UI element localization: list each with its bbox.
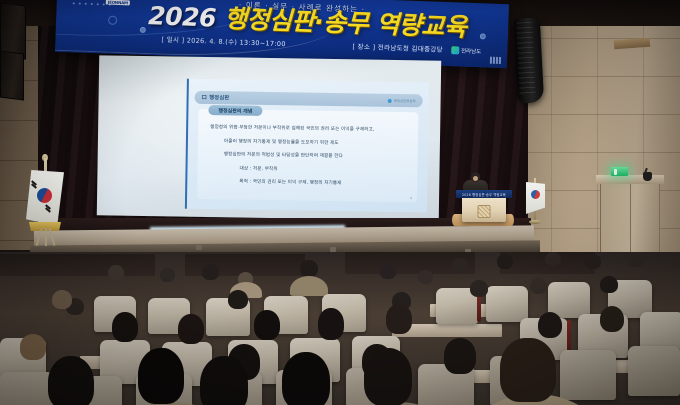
podium <box>462 196 506 222</box>
audience-head <box>364 348 412 405</box>
audience-head <box>138 348 184 404</box>
conference-hall-photo: 전라남도 JEONNAM · 이론 · 실무 · 사례로 완성하는 · 2026… <box>0 0 680 405</box>
audience-head <box>538 312 562 338</box>
running-man-icon <box>614 169 617 175</box>
stage-fixture <box>196 245 202 250</box>
banner-logo-line2: JEONNAM <box>106 0 130 5</box>
emergency-exit-sign <box>611 167 628 176</box>
audience-head <box>585 254 601 269</box>
line-array-speaker <box>0 51 24 101</box>
audience-head <box>497 254 513 269</box>
taegukgi-flag-small <box>524 178 546 224</box>
audience-head <box>500 338 556 402</box>
province-logo-icon <box>451 46 459 54</box>
audience-seat <box>628 346 680 396</box>
slide-brand-logo: 행정심판위원회 <box>388 98 416 103</box>
banner-logo: 전라남도 JEONNAM <box>99 0 138 8</box>
banner-org-emblem: 전라남도 <box>451 46 482 55</box>
slide-header-label: 口 행정심판 <box>202 94 230 101</box>
audience-head <box>254 310 280 340</box>
rear-wall-panel <box>0 254 155 276</box>
slide-body: 행정심판의 개념 행정청의 위법·부당한 처분이나 부작위로 침해된 국민의 권… <box>197 109 418 202</box>
audience-head <box>318 308 344 340</box>
audience-head <box>20 334 46 360</box>
audience-head <box>545 252 561 266</box>
presentation-slide: 행정심판 개요 口 행정심판 행정심판위원회 행정심판의 개념 행정청의 위법·… <box>185 79 429 213</box>
taeguk-symbol-icon <box>531 190 540 199</box>
banner-bubble <box>480 33 486 39</box>
audience-head <box>628 252 644 267</box>
flag-stand <box>36 228 54 248</box>
brand-dot-icon <box>388 98 392 102</box>
audience-head <box>48 356 94 405</box>
audience-head <box>470 280 488 297</box>
banner-place: [ 장소 ] 전라남도청 김대중강당 <box>352 43 443 54</box>
audience-head <box>600 306 624 332</box>
line-array-speaker <box>514 17 544 103</box>
audience-head <box>52 290 72 309</box>
audience-head <box>228 290 248 309</box>
slide-line: 행정심판의 처분의 적법성 및 타당성을 판단하여 재결을 한다 <box>210 152 406 161</box>
audience-head <box>600 276 618 293</box>
audience-head <box>112 312 138 342</box>
audience-head <box>530 278 547 294</box>
slide-section-pill: 행정심판의 개념 <box>208 105 262 116</box>
audience-head <box>444 338 476 374</box>
taegukgi-flag <box>22 158 68 250</box>
slide-page-number: 4 <box>410 196 412 200</box>
audience-head <box>200 356 248 405</box>
banner-decoration-bars <box>490 57 501 64</box>
flag-base <box>529 220 541 224</box>
presenter-face <box>473 176 478 181</box>
projection-screen: 행정심판 개요 口 행정심판 행정심판위원회 행정심판의 개념 행정청의 위법·… <box>97 55 441 220</box>
audience-head <box>160 268 175 282</box>
jeonnam-province-emblem <box>478 205 491 218</box>
door-lintel <box>596 175 664 184</box>
audience-head <box>108 265 124 280</box>
slide-text-lines: 행정청의 위법·부당한 처분이나 부작위로 침해된 국민의 권리 또는 이익을 … <box>209 125 406 188</box>
audience-head <box>386 304 412 334</box>
podium-sign: 2026 행정심판·송무 역량교육 <box>456 190 512 198</box>
slide-line: 대상 : 처분, 부작위 <box>209 166 405 175</box>
audience-head <box>418 270 433 284</box>
audience-seat <box>560 350 616 400</box>
cctv-camera <box>643 172 652 181</box>
audience-area <box>0 252 680 405</box>
audience-head <box>282 352 330 405</box>
slide-line: 목적 : 국민의 권리 또는 이익 구제, 행정의 자기통제 <box>209 179 405 188</box>
slide-corner-note-row: 행정심판 개요 <box>197 83 421 91</box>
audience-head <box>452 258 468 273</box>
audience-head <box>380 264 396 279</box>
podium-sign-text: 2026 행정심판·송무 역량교육 <box>462 192 506 197</box>
audience-head <box>202 264 219 280</box>
audience-shoulders <box>290 276 328 296</box>
audience-seat <box>486 286 528 322</box>
slide-line: 아울러 행정의 자기통제 및 행정능률을 도모하기 위한 제도 <box>210 139 406 148</box>
banner-org-name: 전라남도 <box>461 47 482 56</box>
banner-year: 2026 <box>148 1 217 32</box>
slide-brand-label: 행정심판위원회 <box>394 98 416 103</box>
audience-head <box>300 260 318 277</box>
audience-head <box>178 314 204 344</box>
slide-line: 행정청의 위법·부당한 처분이나 부작위로 침해된 국민의 권리 또는 이익을 … <box>210 125 406 134</box>
audience-seat <box>0 372 54 405</box>
